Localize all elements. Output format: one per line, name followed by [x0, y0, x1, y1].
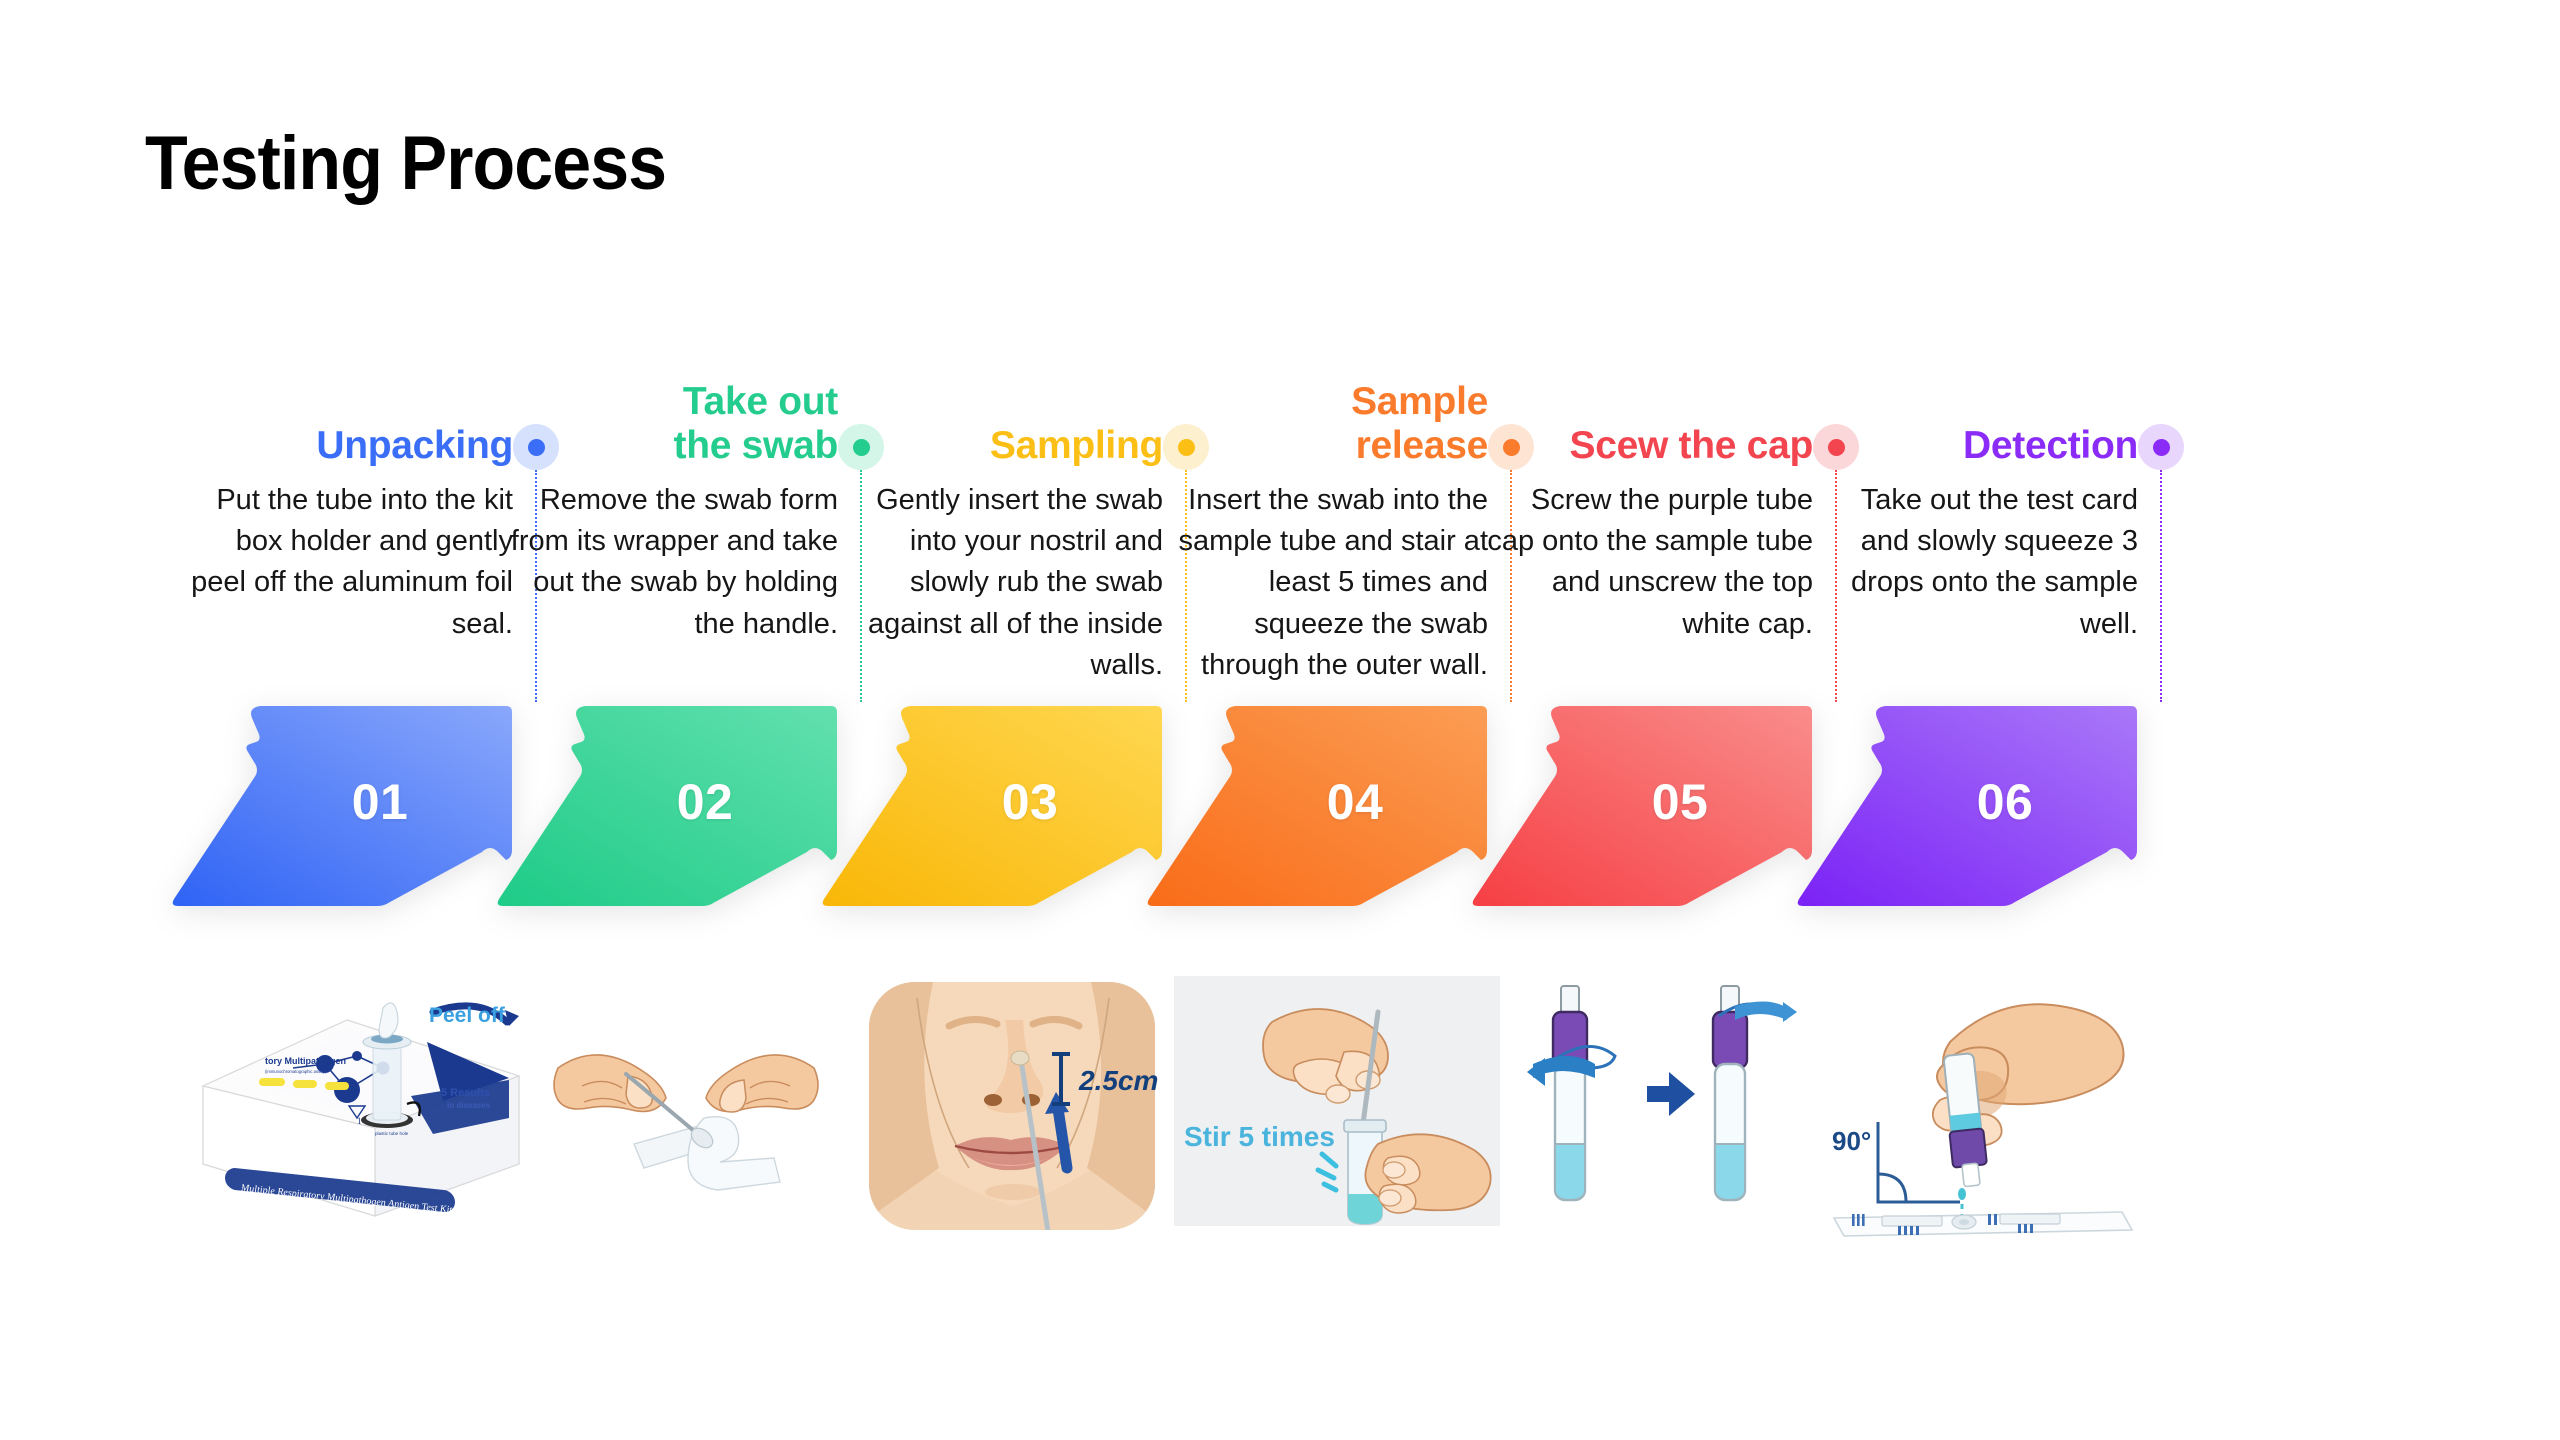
step-description: Remove the swab form from its wrapper an… — [508, 480, 838, 645]
step-description: Gently insert the swab into your nostril… — [833, 480, 1163, 686]
step-heading: Sample release — [1351, 380, 1488, 468]
svg-text:5 Results: 5 Results — [441, 1087, 490, 1099]
steps-row: UnpackingPut the tube into the kit box h… — [0, 0, 2560, 1440]
step-connector-dot-core — [2153, 439, 2170, 456]
step-description: Screw the purple tube cap onto the sampl… — [1483, 480, 1813, 645]
step-column-06: DetectionTake out the test card and slow… — [1800, 0, 2180, 1440]
svg-text:plastic tube hole: plastic tube hole — [375, 1131, 409, 1136]
step-description: Insert the swab into the sample tube and… — [1158, 480, 1488, 686]
step-illustration-face-nasal-swab: 2.5cm — [847, 968, 1177, 1238]
svg-text:1: 1 — [357, 1116, 362, 1126]
step-arrow-shape — [1468, 700, 1813, 910]
step-illustration-hand-dropping-onto-test-card: 90° — [1822, 968, 2152, 1238]
svg-text:2.5cm: 2.5cm — [1078, 1065, 1158, 1096]
svg-text:tory Multipathogen: tory Multipathogen — [265, 1056, 346, 1066]
step-arrow-shape — [168, 700, 513, 910]
infographic-canvas: Testing Process UnpackingPut the tube in… — [0, 0, 2560, 1440]
step-arrow-shape — [1143, 700, 1488, 910]
step-description: Put the tube into the kit box holder and… — [183, 480, 513, 645]
step-description: Take out the test card and slowly squeez… — [1808, 480, 2138, 645]
step-heading: Scew the cap — [1569, 424, 1813, 468]
step-heading: Detection — [1963, 424, 2138, 468]
svg-text:Stir 5 times: Stir 5 times — [1184, 1121, 1335, 1152]
step-illustration-hands-opening-swab-wrapper — [522, 968, 852, 1238]
step-arrow-shape — [493, 700, 838, 910]
step-heading: Take out the swab — [674, 380, 838, 468]
step-illustration-hands-stir-swab-in-tube: Stir 5 times — [1172, 968, 1502, 1238]
step-illustration-test-kit-box-peel-off: tory Multipathogen (immunochromatographi… — [197, 968, 527, 1238]
step-connector-dot — [2138, 424, 2184, 470]
step-heading: Unpacking — [316, 424, 513, 468]
step-heading: Sampling — [990, 424, 1163, 468]
step-illustration-tubes-purple-cap-screw — [1497, 968, 1827, 1238]
svg-text:90°: 90° — [1832, 1126, 1871, 1156]
svg-text:(immunochromatographic assay): (immunochromatographic assay) — [265, 1069, 327, 1074]
step-connector-line — [2160, 470, 2162, 702]
svg-text:Peel off: Peel off — [429, 1004, 506, 1027]
step-arrow-shape — [1793, 700, 2138, 910]
step-arrow-shape — [818, 700, 1163, 910]
svg-text:in diseases: in diseases — [447, 1101, 491, 1110]
